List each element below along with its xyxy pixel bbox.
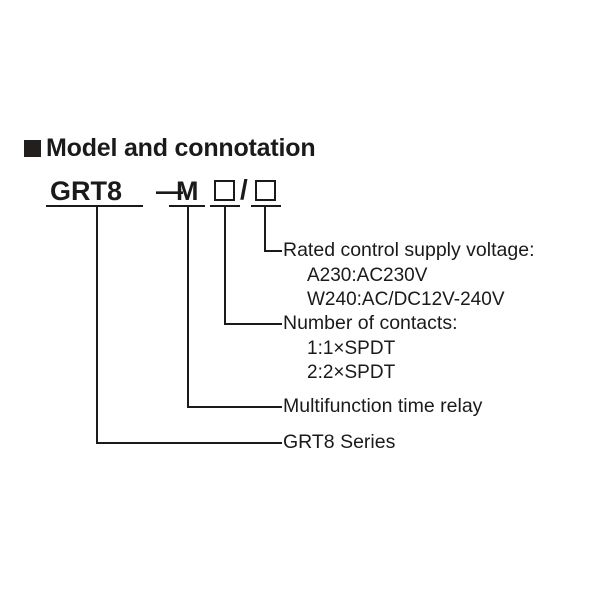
callout-series-title: GRT8 Series	[283, 433, 395, 453]
model-code-type: M	[176, 178, 199, 205]
callout-contacts-title: Number of contacts:	[283, 314, 458, 334]
callout-voltage-option-2: W240:AC/DC12V-240V	[283, 290, 534, 309]
callout-function: Multifunction time relay	[283, 397, 482, 417]
leader-horizontal-function	[187, 406, 282, 408]
leader-horizontal-contacts	[224, 323, 282, 325]
filled-square-bullet-icon	[24, 140, 41, 157]
callout-function-title: Multifunction time relay	[283, 397, 482, 417]
underline-box-voltage	[251, 205, 281, 207]
leader-vertical-voltage	[264, 205, 266, 252]
callout-contacts-option-1: 1:1×SPDT	[283, 339, 458, 358]
callout-series: GRT8 Series	[283, 433, 395, 453]
section-heading-label: Model and connotation	[46, 136, 315, 161]
leader-horizontal-voltage	[264, 250, 282, 252]
leader-vertical-contacts	[224, 205, 226, 325]
model-code-placeholder-box-contacts	[214, 180, 235, 201]
model-connotation-diagram: Model and connotation GRT8 — M / Rated c…	[0, 0, 600, 600]
callout-voltage-title: Rated control supply voltage:	[283, 241, 534, 261]
callout-voltage: Rated control supply voltage: A230:AC230…	[283, 241, 534, 309]
callout-voltage-option-1: A230:AC230V	[283, 266, 534, 285]
leader-horizontal-series	[96, 442, 282, 444]
section-heading: Model and connotation	[24, 136, 315, 161]
leader-vertical-series	[96, 205, 98, 444]
callout-contacts: Number of contacts: 1:1×SPDT 2:2×SPDT	[283, 314, 458, 382]
model-code-series: GRT8	[50, 178, 122, 205]
leader-vertical-function	[187, 205, 189, 408]
callout-contacts-option-2: 2:2×SPDT	[283, 363, 458, 382]
underline-series	[46, 205, 143, 207]
model-code-separator: /	[240, 176, 248, 204]
model-code-placeholder-box-voltage	[255, 180, 276, 201]
